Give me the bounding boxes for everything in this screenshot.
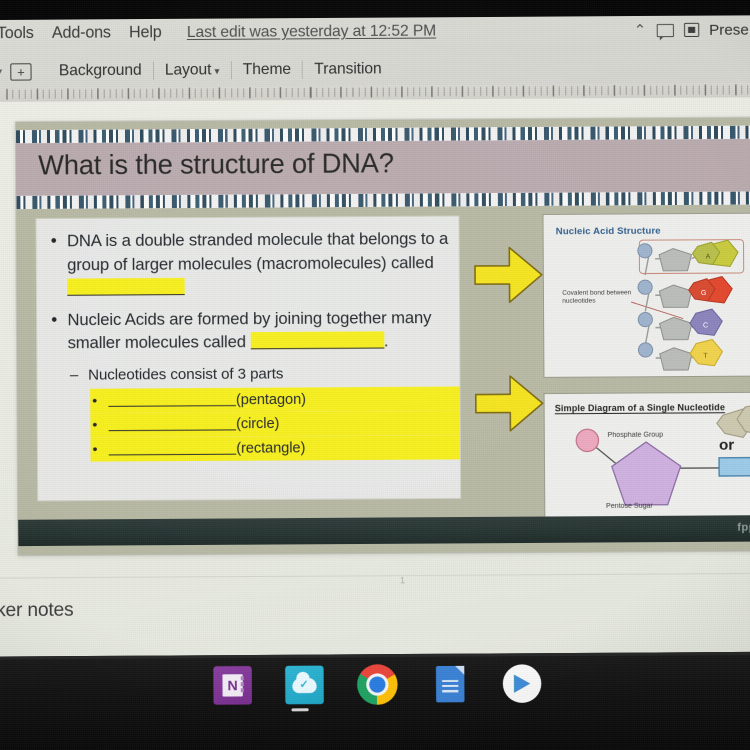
fill-in-blank-highlight[interactable] xyxy=(109,414,237,431)
onenote-icon-letter: N xyxy=(222,674,242,696)
bullet-text: DNA is a double stranded molecule that b… xyxy=(67,230,448,274)
menu-bar-right-actions: ⌃ Prese xyxy=(634,15,750,44)
label-phosphate-group: Phosphate Group xyxy=(608,432,664,440)
onenote-icon[interactable]: N xyxy=(213,666,252,705)
barcode-decoration-bottom xyxy=(16,191,750,209)
watermark: fppt xyxy=(737,521,750,533)
sub-bullet-item[interactable]: (rectangle) xyxy=(90,435,460,462)
slide-canvas-area[interactable]: What is the structure of DNA? DNA is a d… xyxy=(0,97,750,656)
notes-divider xyxy=(0,573,750,579)
svg-text:G: G xyxy=(701,289,707,297)
chrome-icon[interactable] xyxy=(357,664,398,705)
sub-bullet-list: (pentagon) (circle) (rectangle) xyxy=(90,386,460,461)
last-edit-status[interactable]: Last edit was yesterday at 12:52 PM xyxy=(187,22,436,42)
svg-text:A: A xyxy=(706,252,711,260)
comment-icon[interactable] xyxy=(656,23,673,36)
layout-button-label: Layout xyxy=(165,61,212,78)
image-nucleic-acid-structure[interactable]: Nucleic Acid Structure One nucleotide Co… xyxy=(543,213,750,377)
speaker-notes-placeholder[interactable]: eaker notes xyxy=(0,599,73,622)
menu-item-help[interactable]: Help xyxy=(120,24,171,43)
transition-button[interactable]: Transition xyxy=(303,60,393,79)
bullet-text-after: . xyxy=(384,332,389,350)
theme-button[interactable]: Theme xyxy=(231,61,302,80)
slide-title-block[interactable]: What is the structure of DNA? xyxy=(16,126,750,210)
svg-text:T: T xyxy=(703,352,708,360)
sub-bullet-label: (circle) xyxy=(236,415,279,431)
menu-item-tools[interactable]: Tools xyxy=(0,25,43,44)
barcode-decoration-top xyxy=(16,126,750,144)
svg-text:C: C xyxy=(703,321,708,329)
chromeos-shelf[interactable]: N xyxy=(0,652,750,750)
page-title[interactable]: What is the structure of DNA? xyxy=(38,148,394,182)
fill-in-blank-highlight[interactable] xyxy=(109,438,237,455)
sub-bullet-label: (pentagon) xyxy=(236,391,306,408)
slide-bottom-band: fppt xyxy=(18,515,750,546)
background-button[interactable]: Background xyxy=(48,62,153,81)
toolbar-overflow-caret-icon[interactable]: ▾ xyxy=(0,64,2,78)
bullet-item[interactable]: DNA is a double stranded molecule that b… xyxy=(45,228,449,302)
fill-in-blank-highlight[interactable] xyxy=(67,278,184,296)
bullet-text: Nucleotides consist of 3 parts xyxy=(88,365,283,383)
google-play-icon[interactable] xyxy=(503,664,542,703)
slide-editing-surface[interactable]: What is the structure of DNA? DNA is a d… xyxy=(16,117,750,555)
google-docs-icon[interactable] xyxy=(431,665,470,704)
arrow-right-bottom[interactable] xyxy=(474,372,545,435)
fill-in-blank-highlight[interactable] xyxy=(250,331,384,349)
cloud-sync-icon[interactable] xyxy=(285,666,324,705)
present-button-label[interactable]: Prese xyxy=(709,21,749,38)
layout-button[interactable]: Layout▾ xyxy=(154,61,231,80)
bullet-item[interactable]: Nucleic Acids are formed by joining toge… xyxy=(45,306,449,356)
present-icon[interactable] xyxy=(684,23,699,37)
sub-bullet-item[interactable]: (pentagon) xyxy=(90,386,460,413)
slide-body-textbox[interactable]: DNA is a double stranded molecule that b… xyxy=(36,217,460,501)
active-app-indicator xyxy=(291,708,308,711)
bullet-item-level2[interactable]: Nucleotides consist of 3 parts xyxy=(68,362,450,387)
shelf-icon-row: N xyxy=(0,662,750,707)
sub-bullet-item[interactable]: (circle) xyxy=(90,410,460,437)
label-pentose-sugar: Pentose Sugar xyxy=(606,503,653,511)
slide-number: 1 xyxy=(400,575,405,585)
nucleic-acid-diagram: A G C T xyxy=(543,213,750,377)
new-slide-button[interactable]: + xyxy=(10,63,31,80)
label-or: or xyxy=(719,442,734,450)
speaker-notes-area[interactable]: 1 eaker notes xyxy=(0,573,750,657)
fill-in-blank-highlight[interactable] xyxy=(108,389,236,406)
menu-item-addons[interactable]: Add-ons xyxy=(43,24,120,43)
chevron-up-icon[interactable]: ⌃ xyxy=(634,21,647,39)
chevron-down-icon: ▾ xyxy=(214,66,219,77)
sub-bullet-label: (rectangle) xyxy=(236,440,305,457)
chromebook-screen-photo: Tools Add-ons Help Last edit was yesterd… xyxy=(0,0,750,750)
image-single-nucleotide[interactable]: Simple Diagram of a Single Nucleotide Ph… xyxy=(545,392,750,523)
arrow-right-top[interactable] xyxy=(473,243,544,306)
